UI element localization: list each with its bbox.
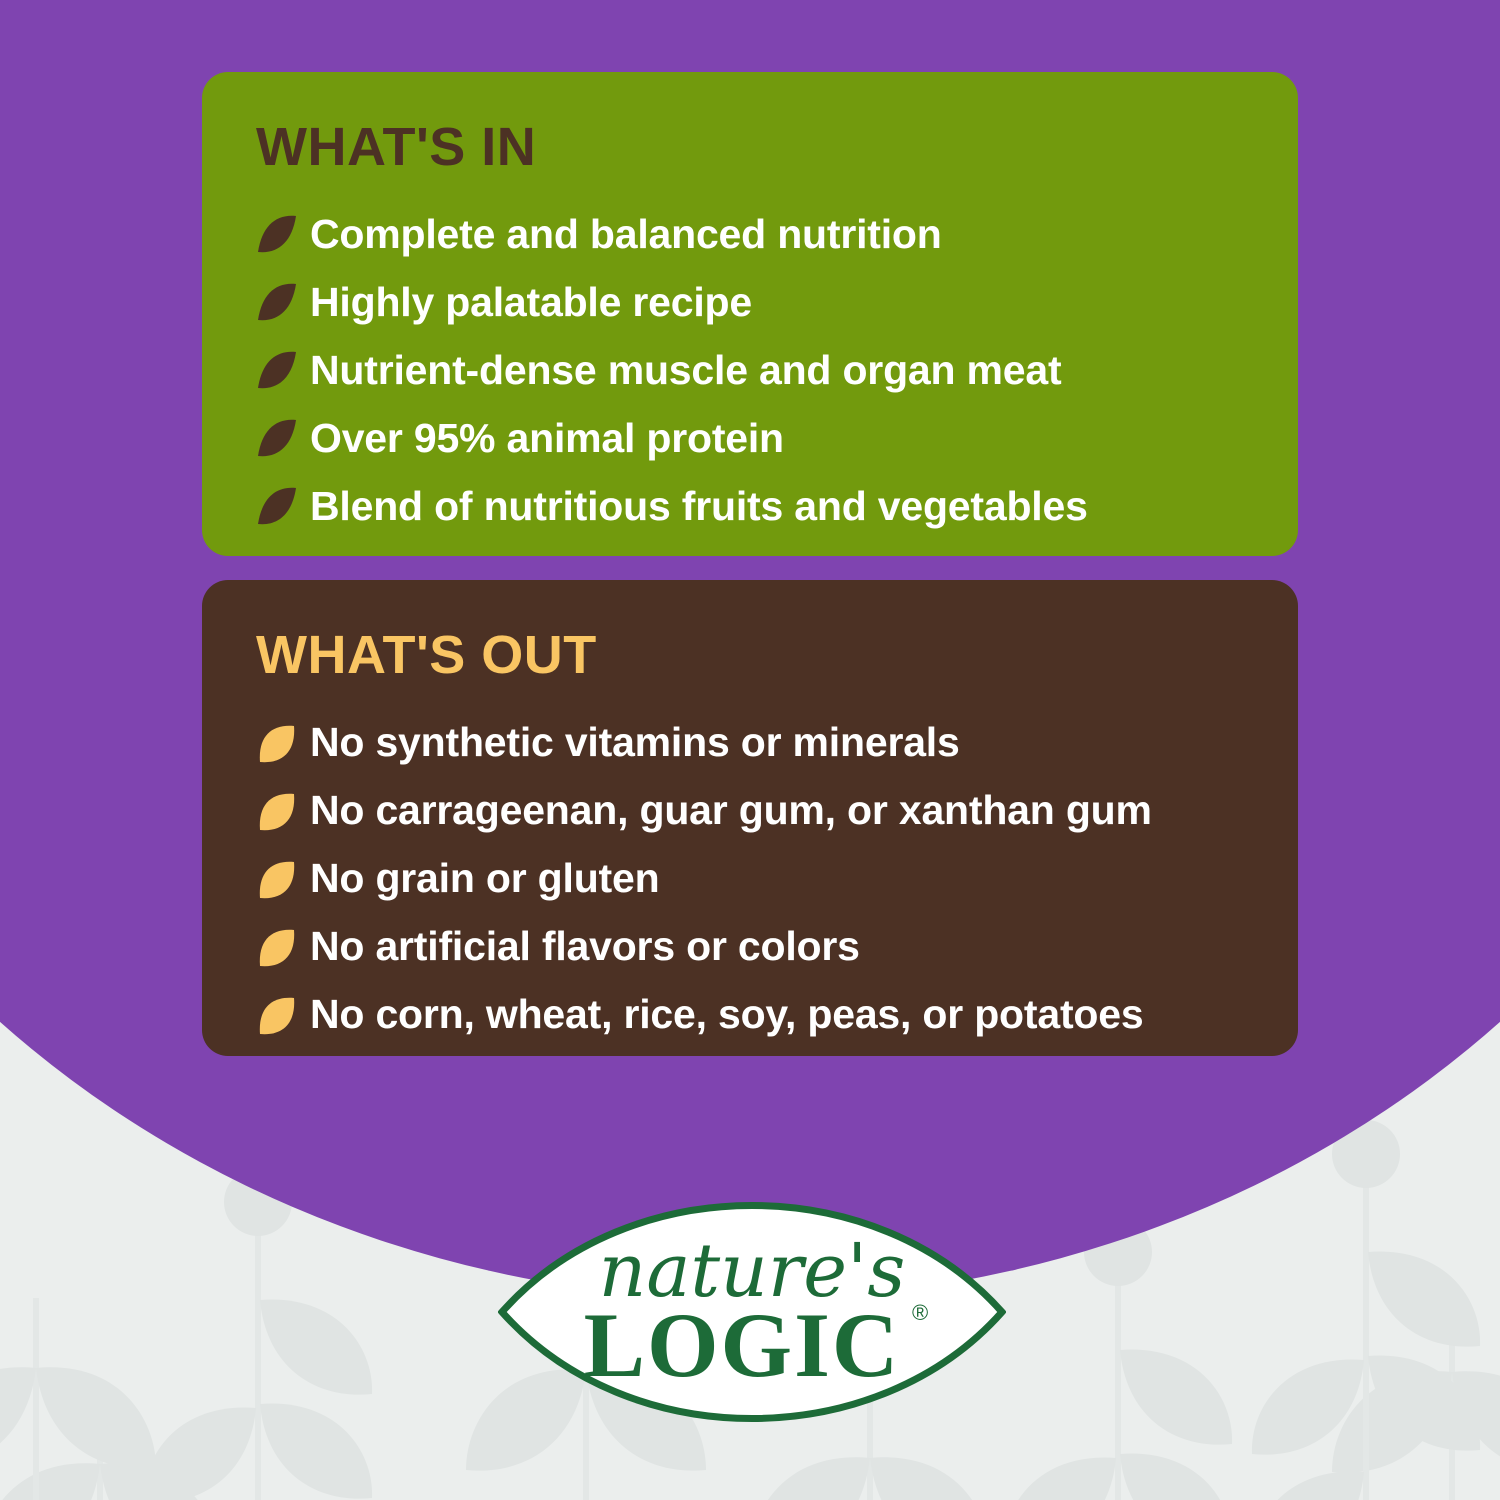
list-item-label: Blend of nutritious fruits and vegetable… bbox=[310, 483, 1088, 530]
list-item: Over 95% animal protein bbox=[252, 404, 1298, 472]
leaf-bullet-brown-icon bbox=[252, 482, 300, 530]
list-item: No synthetic vitamins or minerals bbox=[252, 708, 1298, 776]
list-item: No grain or gluten bbox=[252, 844, 1298, 912]
leaf-bullet-gold-icon bbox=[252, 854, 300, 902]
list-item-label: Complete and balanced nutrition bbox=[310, 211, 942, 258]
list-item-label: No synthetic vitamins or minerals bbox=[310, 719, 960, 766]
leaf-bullet-gold-icon bbox=[252, 922, 300, 970]
list-item: Complete and balanced nutrition bbox=[252, 200, 1298, 268]
whats-out-list: No synthetic vitamins or minerals No car… bbox=[202, 682, 1298, 1048]
leaf-bullet-brown-icon bbox=[252, 278, 300, 326]
whats-in-card: WHAT'S IN Complete and balanced nutritio… bbox=[202, 72, 1298, 556]
list-item-label: Over 95% animal protein bbox=[310, 415, 784, 462]
list-item-label: No corn, wheat, rice, soy, peas, or pota… bbox=[310, 991, 1143, 1038]
leaf-bullet-brown-icon bbox=[252, 210, 300, 258]
list-item-label: Nutrient-dense muscle and organ meat bbox=[310, 347, 1061, 394]
whats-out-card: WHAT'S OUT No synthetic vitamins or mine… bbox=[202, 580, 1298, 1056]
list-item-label: No grain or gluten bbox=[310, 855, 659, 902]
list-item: No carrageenan, guar gum, or xanthan gum bbox=[252, 776, 1298, 844]
whats-out-title: WHAT'S OUT bbox=[202, 580, 1298, 682]
logo-registered-mark: ® bbox=[912, 1300, 928, 1325]
leaf-bullet-brown-icon bbox=[252, 414, 300, 462]
leaf-bullet-gold-icon bbox=[252, 718, 300, 766]
logo-word-text: LOGIC bbox=[584, 1294, 901, 1396]
brand-logo: nature's LOGIC ® bbox=[498, 1188, 1006, 1436]
list-item: No corn, wheat, rice, soy, peas, or pota… bbox=[252, 980, 1298, 1048]
list-item-label: Highly palatable recipe bbox=[310, 279, 752, 326]
list-item-label: No artificial flavors or colors bbox=[310, 923, 860, 970]
leaf-bullet-gold-icon bbox=[252, 990, 300, 1038]
list-item: Blend of nutritious fruits and vegetable… bbox=[252, 472, 1298, 540]
leaf-bullet-gold-icon bbox=[252, 786, 300, 834]
whats-in-list: Complete and balanced nutrition Highly p… bbox=[202, 174, 1298, 540]
promo-graphic: WHAT'S IN Complete and balanced nutritio… bbox=[0, 0, 1500, 1500]
whats-in-title: WHAT'S IN bbox=[202, 72, 1298, 174]
leaf-bullet-brown-icon bbox=[252, 346, 300, 394]
list-item: Highly palatable recipe bbox=[252, 268, 1298, 336]
list-item-label: No carrageenan, guar gum, or xanthan gum bbox=[310, 787, 1152, 834]
list-item: Nutrient-dense muscle and organ meat bbox=[252, 336, 1298, 404]
list-item: No artificial flavors or colors bbox=[252, 912, 1298, 980]
